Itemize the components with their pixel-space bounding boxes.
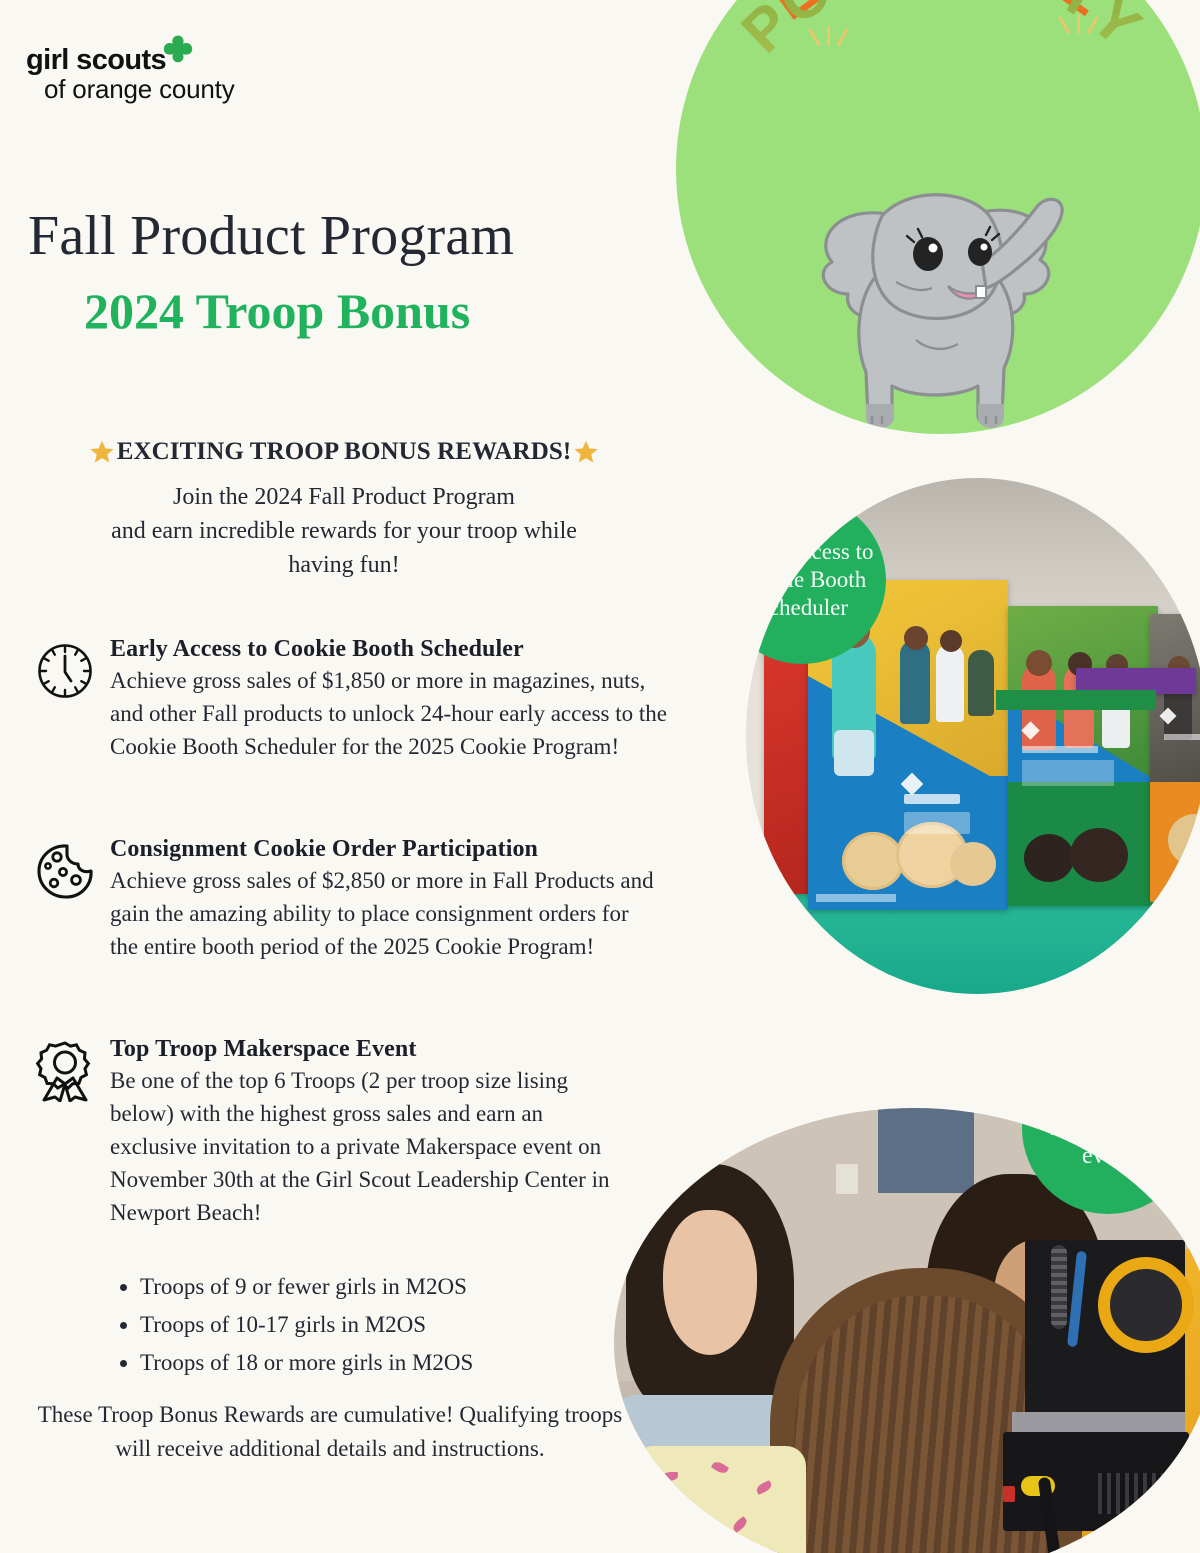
intro-body-line-2: and earn incredible rewards for your tro…: [30, 514, 658, 548]
reward-item-consignment: Consignment Cookie Order Participation A…: [34, 836, 654, 963]
svg-text:POSSIBILITY: POSSIBILITY: [729, 0, 1155, 65]
reward-text: Achieve gross sales of $2,850 or more in…: [110, 864, 654, 963]
makerspace-photo: Troop Makerspace event: [614, 1108, 1200, 1553]
intro-heading: EXCITING TROOP BONUS REWARDS!: [30, 438, 658, 466]
girl-scouts-logo: girl scouts of orange county: [26, 26, 296, 106]
list-item: Troops of 10-17 girls in M2OS: [140, 1306, 660, 1344]
intro-heading-text: EXCITING TROOP BONUS REWARDS!: [117, 438, 572, 466]
trefoil-icon: [161, 34, 195, 64]
logo-line-2: of orange county: [44, 74, 235, 105]
hero-word-bottom: POSSIBILITY: [729, 0, 1155, 65]
award-ribbon-icon: [34, 1040, 96, 1102]
reward-text: Be one of the top 6 Troops (2 per troop …: [110, 1064, 624, 1229]
reward-item-makerspace: Top Troop Makerspace Event Be one of the…: [34, 1036, 624, 1229]
reward-item-early-access: Early Access to Cookie Booth Scheduler A…: [34, 636, 674, 763]
logo-line-1: girl scouts: [26, 44, 166, 77]
flyer-page: EMBRACE POSSIBILITY: [0, 0, 1200, 1553]
reward-title: Early Access to Cookie Booth Scheduler: [110, 636, 674, 663]
list-item: Troops of 9 or fewer girls in M2OS: [140, 1268, 660, 1306]
star-icon: [89, 439, 115, 465]
reward-title: Top Troop Makerspace Event: [110, 1036, 624, 1063]
reward-text: Achieve gross sales of $1,850 or more in…: [110, 664, 674, 763]
intro-body-line-3: having fun!: [30, 548, 658, 582]
closing-note: These Troop Bonus Rewards are cumulative…: [30, 1398, 630, 1466]
star-icon: [573, 439, 599, 465]
hero-green-circle: EMBRACE POSSIBILITY: [676, 0, 1200, 434]
list-item: Troops of 18 or more girls in M2OS: [140, 1344, 660, 1382]
intro-body: Join the 2024 Fall Product Program and e…: [30, 480, 658, 582]
troop-size-bullet-list: Troops of 9 or fewer girls in M2OS Troop…: [88, 1268, 660, 1382]
clock-icon: [34, 640, 96, 702]
embrace-possibility-wordmark: EMBRACE POSSIBILITY: [676, 0, 1200, 114]
intro-body-line-1: Join the 2024 Fall Product Program: [30, 480, 658, 514]
elephant-mascot-icon: [796, 154, 1096, 434]
page-title-line-1: Fall Product Program: [28, 204, 514, 268]
intro-block: EXCITING TROOP BONUS REWARDS! Join the 2…: [30, 438, 658, 582]
cookie-icon: [34, 840, 96, 902]
cookie-boxes-photo: Early Access to Cookie Booth Scheduler: [746, 478, 1200, 994]
reward-title: Consignment Cookie Order Participation: [110, 836, 654, 863]
page-title-line-2: 2024 Troop Bonus: [84, 282, 470, 340]
